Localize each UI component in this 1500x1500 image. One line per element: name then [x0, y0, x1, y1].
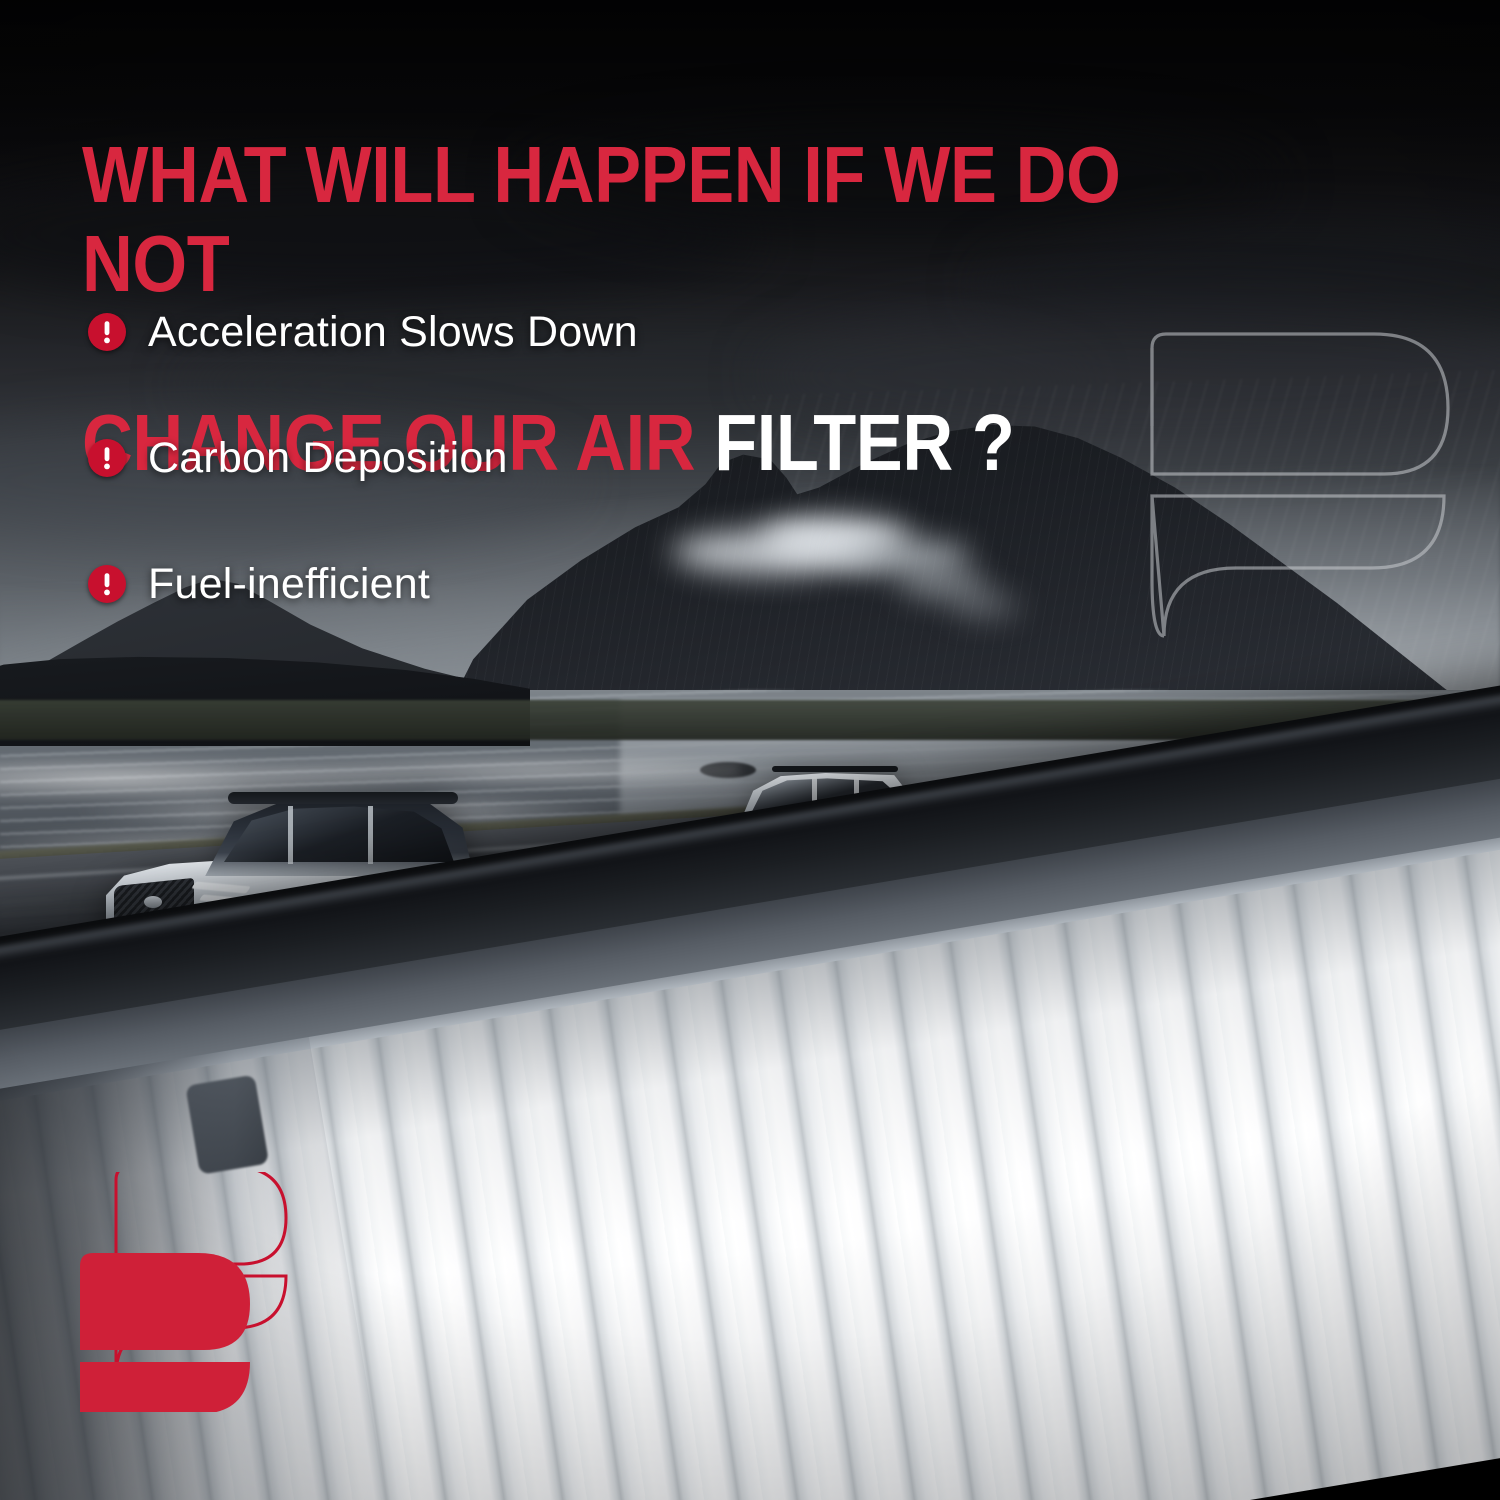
pickup-roof-rack — [772, 766, 898, 772]
suv-emblem — [144, 896, 162, 908]
mountain-mist — [950, 596, 1020, 616]
list-item-label: Acceleration Slows Down — [148, 311, 638, 354]
consequences-list: Acceleration Slows Down Carbon Depositio… — [88, 300, 948, 678]
suv-b-pillar — [288, 806, 293, 864]
list-item: Fuel-inefficient — [88, 552, 948, 616]
list-item-label: Carbon Deposition — [148, 437, 508, 480]
list-item-label: Fuel-inefficient — [148, 563, 430, 606]
exclamation-circle-icon — [88, 439, 126, 477]
suv-c-pillar — [368, 806, 373, 864]
suv-roof-rail — [228, 792, 458, 804]
promo-image-root: WHAT WILL HAPPEN IF WE DO NOT CHANGE OUR… — [0, 0, 1500, 1500]
brand-logo — [78, 1172, 318, 1412]
list-item: Acceleration Slows Down — [88, 300, 948, 364]
exclamation-circle-icon — [88, 565, 126, 603]
headline-line-1: WHAT WILL HAPPEN IF WE DO NOT — [82, 130, 1120, 309]
list-item: Carbon Deposition — [88, 426, 948, 490]
exclamation-circle-icon — [88, 313, 126, 351]
